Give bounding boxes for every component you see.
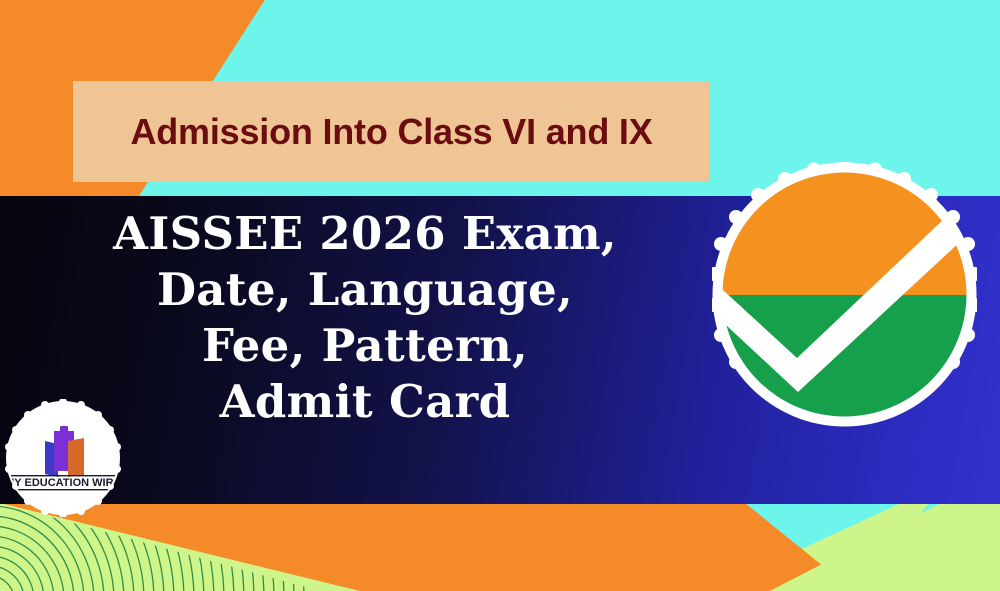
poster-canvas: Admission Into Class VI and IX AISSEE 20… — [0, 0, 1000, 591]
logo-text: MY EDUCATION WIRE — [5, 477, 121, 489]
page-title: AISSEE 2026 Exam, Date, Language, Fee, P… — [60, 206, 670, 430]
page-title-line-4: Admit Card — [60, 374, 670, 430]
page-title-line-1: AISSEE 2026 Exam, — [60, 206, 670, 262]
page-title-line-3: Fee, Pattern, — [60, 318, 670, 374]
verified-check-badge — [712, 162, 977, 427]
logo-clipboard-clip-icon — [60, 426, 68, 433]
badge-saffron-top — [712, 162, 977, 295]
admission-banner: Admission Into Class VI and IX — [73, 81, 710, 182]
logo-rule-line — [10, 489, 116, 490]
admission-banner-text: Admission Into Class VI and IX — [130, 114, 652, 150]
site-logo[interactable]: MY EDUCATION WIRE — [4, 399, 122, 517]
logo-book-right-icon — [68, 438, 84, 477]
badge-green-bottom — [712, 295, 977, 427]
page-title-line-2: Date, Language, — [60, 262, 670, 318]
